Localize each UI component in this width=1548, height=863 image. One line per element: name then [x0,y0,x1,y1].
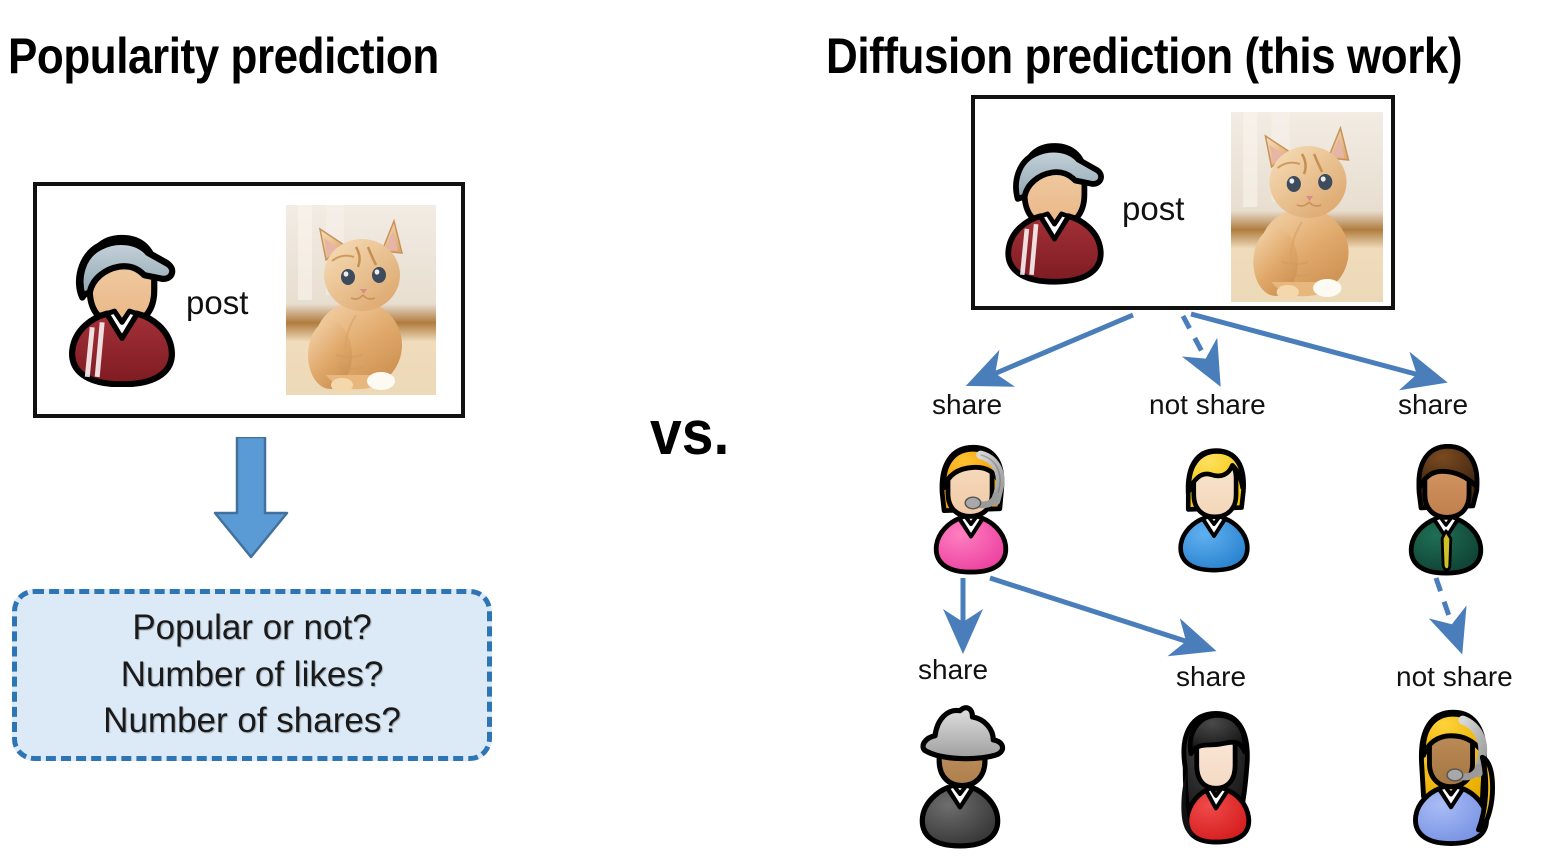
edge-label-l2-2: not share [1149,389,1266,421]
edge-post-to-not-share-mid [1183,316,1216,378]
kitten-photo-left [286,205,436,395]
down-block-arrow-icon [207,437,295,559]
edge-post-to-share-right [1191,314,1438,380]
outcome-line-1: Popular or not? [132,605,371,652]
person-blonde-blue-icon [1168,432,1260,574]
edge-post-to-share-left [975,315,1133,382]
edge-label-l3-3: not share [1396,661,1513,693]
post-label-left: post [186,284,248,322]
outcome-line-3: Number of shares? [103,698,401,745]
person-cap-red-icon [60,213,184,387]
page-title-popularity: Popularity prediction [8,27,439,85]
edge-pink-to-share-mid [990,578,1207,648]
edge-label-l3-1: share [918,654,988,686]
outcome-line-2: Number of likes? [121,652,384,699]
edge-green-to-not-share [1436,578,1459,645]
edge-label-l2-1: share [932,389,1002,421]
kitten-photo-right [1231,112,1383,302]
person-brown-green-suit-icon [1398,430,1494,576]
person-black-hair-red-icon [1166,694,1262,850]
post-label-right: post [1122,190,1184,228]
person-orange-headset-pink-icon [923,428,1019,576]
page-title-diffusion: Diffusion prediction (this work) [826,27,1462,85]
person-yellow-cap-headset-blue-icon [1402,694,1500,850]
edge-label-l3-2: share [1176,661,1246,693]
vs-separator-label: vs. [650,398,729,469]
person-cap-red-icon [997,122,1112,285]
person-gray-hat-icon [908,690,1012,850]
edge-label-l2-3: share [1398,389,1468,421]
outcome-questions-box: Popular or not? Number of likes? Number … [12,589,492,761]
